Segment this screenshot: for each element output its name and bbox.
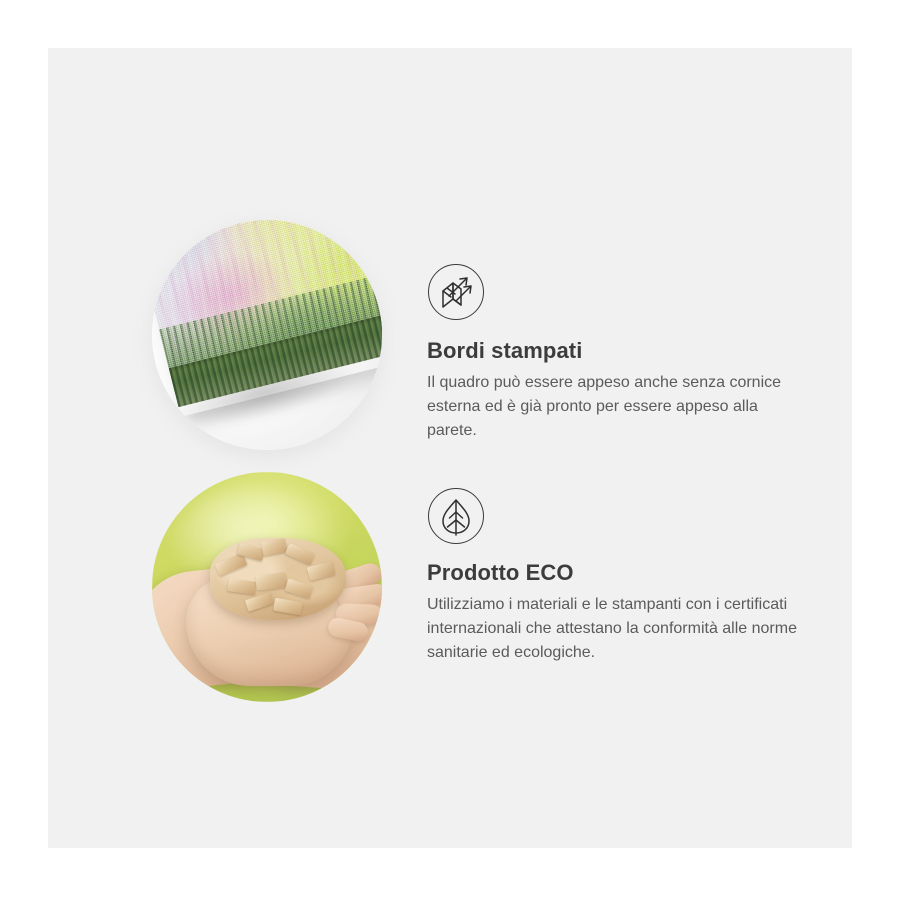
feature-title: Prodotto ECO [427, 560, 807, 586]
feature-description: Utilizziamo i materiali e le stampanti c… [427, 593, 807, 665]
canvas-corner-photo [152, 220, 382, 450]
content-panel: Bordi stampati Il quadro può essere appe… [48, 48, 852, 848]
leaf-icon [428, 488, 484, 544]
feature-title: Bordi stampati [427, 338, 807, 364]
printed-edges-icon [428, 264, 484, 320]
hands-wood-chips-photo [152, 472, 382, 702]
eco-product-text: Prodotto ECO Utilizziamo i materiali e l… [427, 560, 807, 665]
wood-chips-pile [210, 538, 346, 620]
wood-chip [255, 572, 286, 590]
product-feature-page: Bordi stampati Il quadro può essere appe… [0, 0, 900, 900]
printed-edges-text: Bordi stampati Il quadro può essere appe… [427, 338, 807, 443]
feature-description: Il quadro può essere appeso anche senza … [427, 371, 807, 443]
